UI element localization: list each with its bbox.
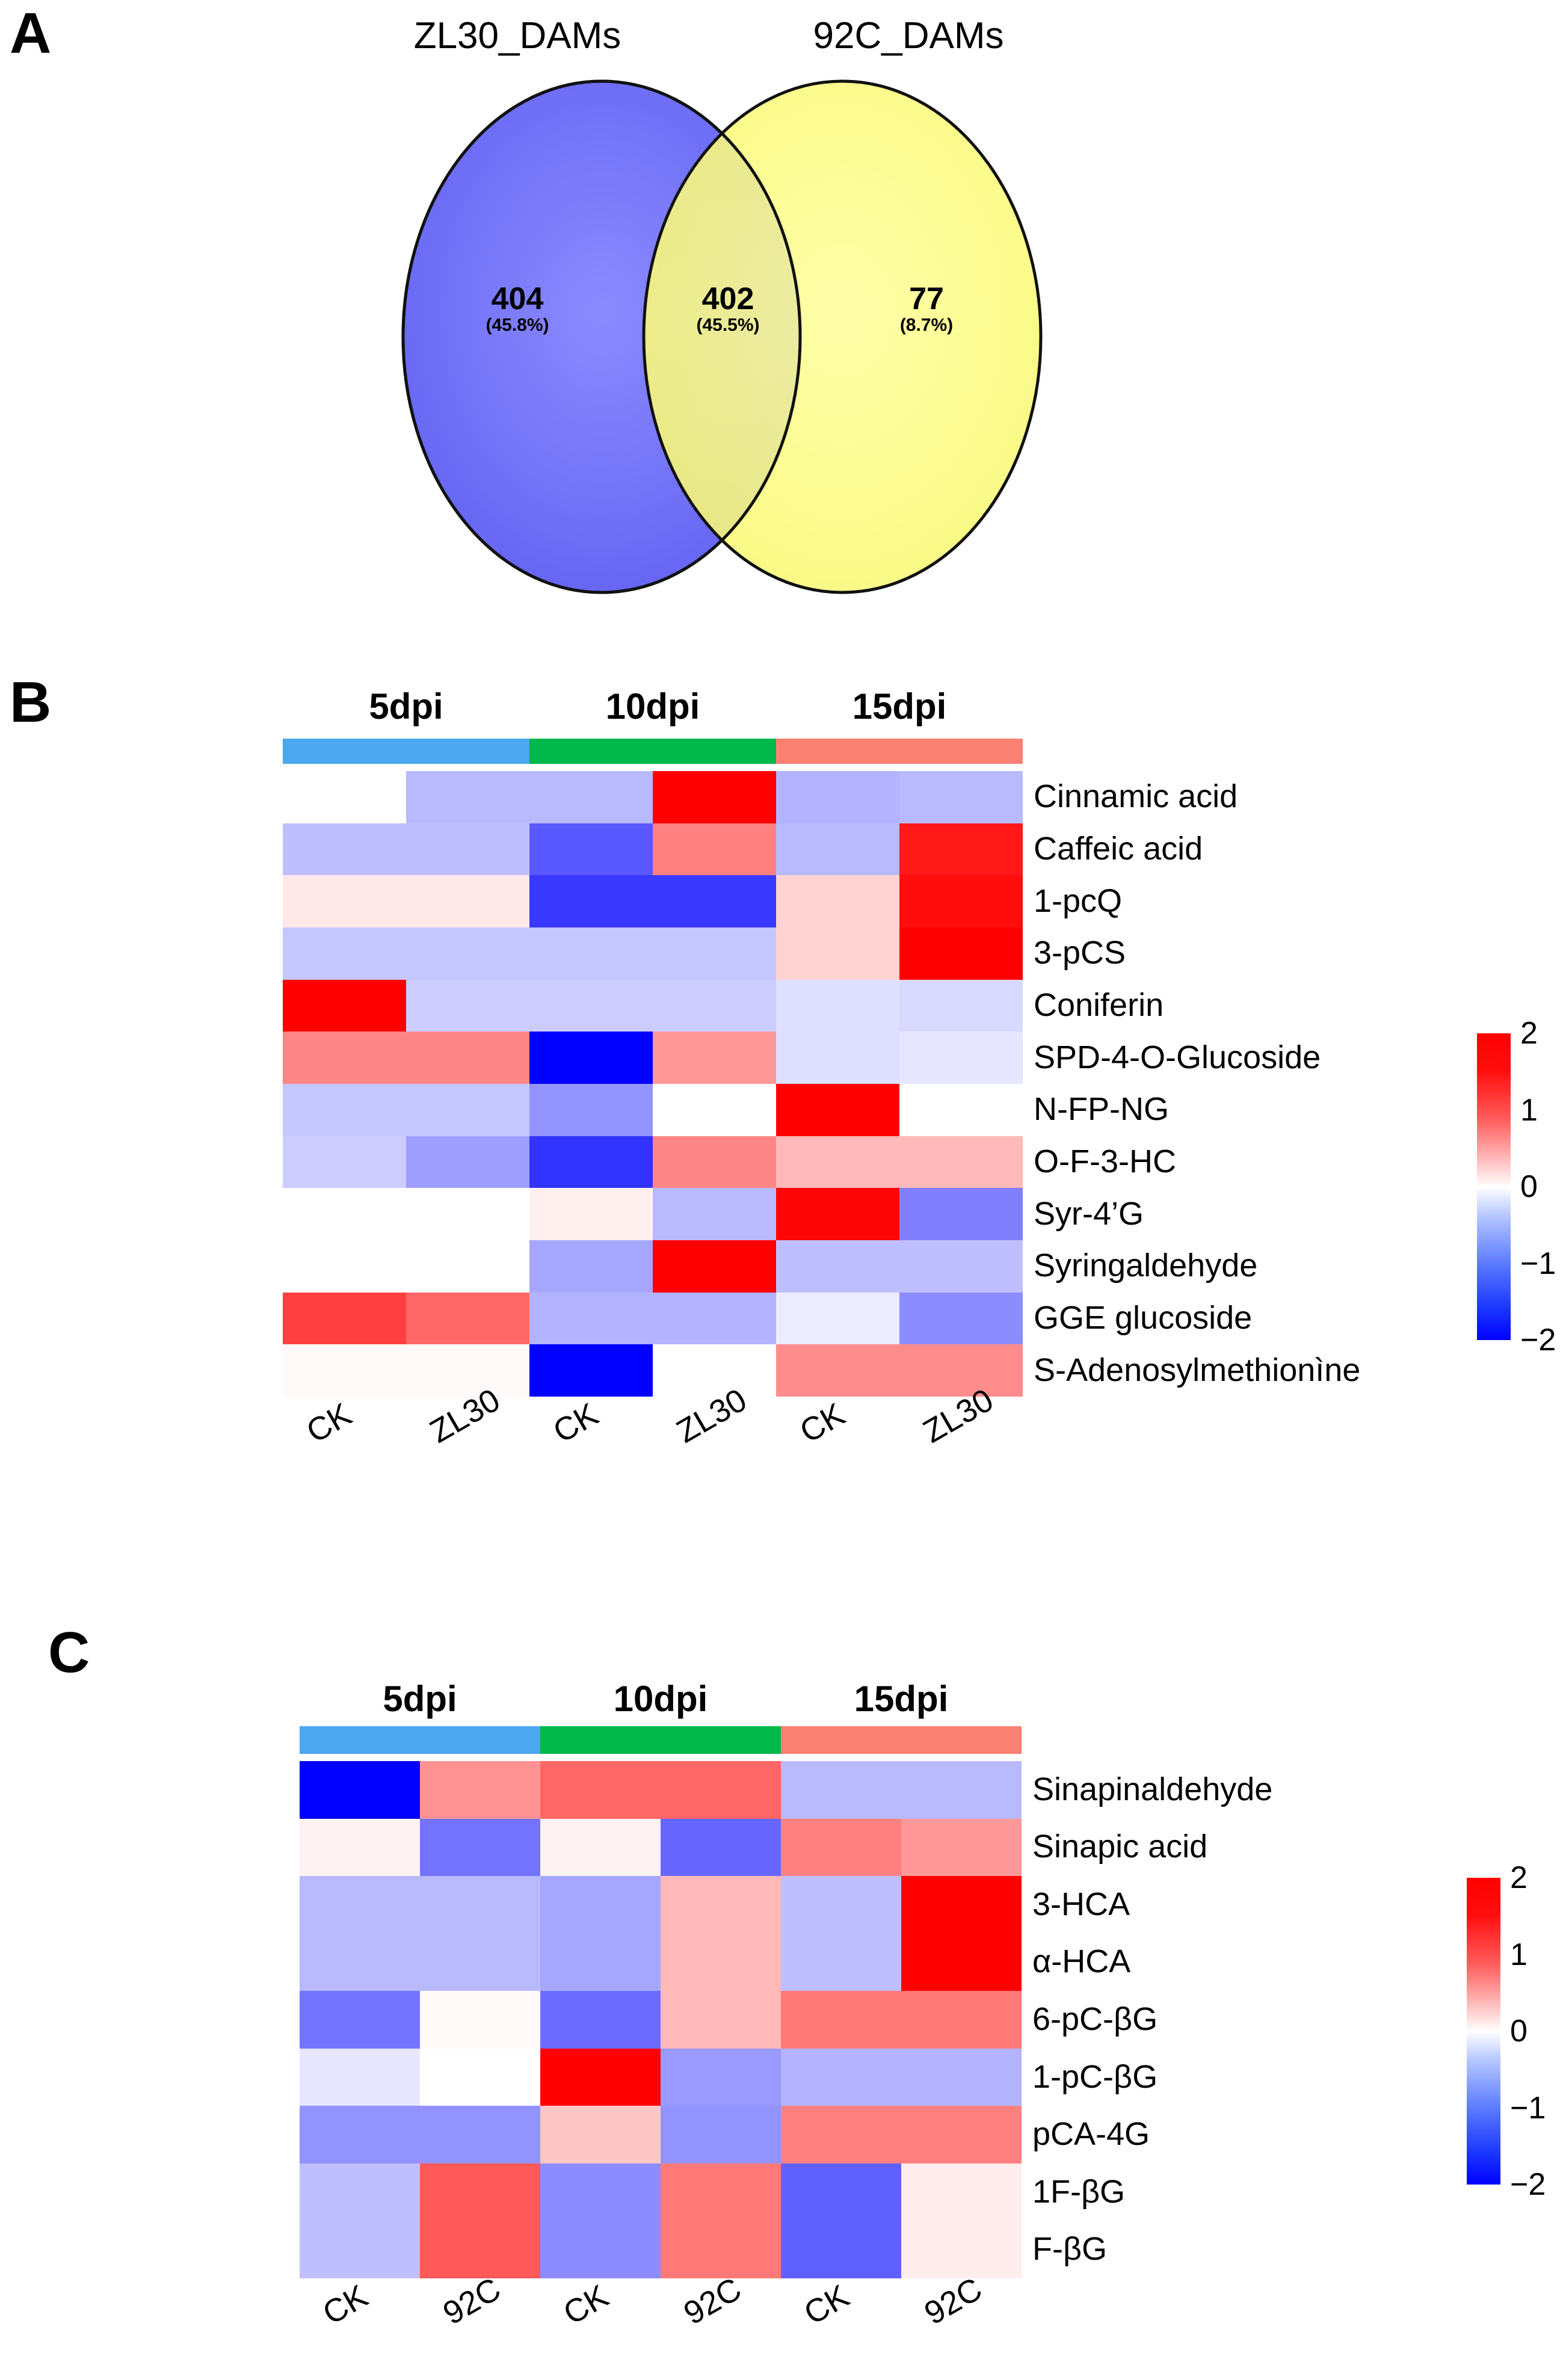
heatmap-cell: [300, 1876, 420, 1934]
heatmap-cell: [781, 1761, 901, 1819]
heatmap-cell: [529, 927, 653, 980]
heatmap-cell: [540, 1991, 661, 2049]
heatmap-column-label-ck: CK: [547, 1395, 605, 1450]
heatmap-cell: [540, 1819, 661, 1877]
heatmap-row-label: 6-pC-βG: [1032, 2000, 1158, 2038]
heatmap-cell: [653, 1032, 776, 1084]
heatmap-cell: [283, 1344, 406, 1397]
heatmap-cell: [283, 875, 406, 927]
panel-c-timepoint-labels: 5dpi10dpi15dpi: [300, 1678, 1022, 1720]
colorbar-tick-label: 0: [1520, 1169, 1538, 1205]
heatmap-cell: [540, 2163, 661, 2221]
heatmap-cell: [529, 1136, 653, 1188]
heatmap-cell: [776, 927, 899, 980]
heatmap-cell: [899, 1293, 1023, 1345]
heatmap-row-label: GGE glucoside: [1034, 1299, 1252, 1336]
heatmap-row-label: S-Adenosylmethionìne: [1034, 1351, 1360, 1389]
heatmap-row-label: pCA-4G: [1032, 2115, 1150, 2153]
heatmap-cell: [300, 2221, 420, 2278]
heatmap-cell: [406, 1136, 529, 1188]
venn-count-right-only-value: 77: [866, 283, 987, 316]
heatmap-cell: [529, 771, 653, 823]
heatmap-cell: [540, 1761, 661, 1819]
heatmap-cell: [781, 2106, 901, 2163]
heatmap-cell: [406, 1293, 529, 1345]
heatmap-cell: [653, 980, 776, 1032]
heatmap-cell: [529, 1240, 653, 1293]
heatmap-cell: [899, 1032, 1023, 1084]
heatmap-cell: [420, 2049, 540, 2106]
heatmap-cell: [776, 823, 899, 876]
heatmap-cell: [420, 2221, 540, 2278]
colorbar-tick-label: −2: [1510, 2166, 1546, 2203]
venn-circle-right: [644, 81, 1041, 592]
timepoint-strip-10dpi: [540, 1726, 781, 1754]
heatmap-cell: [283, 771, 406, 823]
timepoint-strip-5dpi: [283, 739, 529, 764]
heatmap-cell: [420, 1876, 540, 1934]
heatmap-cell: [283, 1032, 406, 1084]
heatmap-cell: [529, 1188, 653, 1240]
panel-b-grid: [283, 771, 1023, 1397]
colorbar-tick-label: −2: [1520, 1322, 1556, 1358]
heatmap-cell: [540, 2106, 661, 2163]
heatmap-cell: [661, 2049, 781, 2106]
heatmap-row-label: α-HCA: [1032, 1943, 1130, 1980]
heatmap-cell: [776, 875, 899, 927]
venn-count-right-only: 77 (8.7%): [866, 283, 987, 334]
colorbar-tick-label: −1: [1510, 2090, 1546, 2126]
heatmap-cell: [901, 2049, 1022, 2106]
colorbar-tick-label: −1: [1520, 1246, 1556, 1282]
colorbar-tick-label: 2: [1510, 1860, 1528, 1896]
heatmap-cell: [901, 2221, 1022, 2278]
heatmap-cell: [529, 1293, 653, 1345]
heatmap-row-label: 3-pCS: [1034, 934, 1126, 971]
heatmap-cell: [300, 1761, 420, 1819]
panel-a-letter: A: [10, 5, 51, 63]
heatmap-cell: [653, 1188, 776, 1240]
heatmap-cell: [283, 1188, 406, 1240]
panel-b-colorbar-gradient: [1477, 1033, 1511, 1340]
colorbar-tick-label: 1: [1510, 1937, 1528, 1973]
heatmap-cell: [899, 823, 1023, 876]
heatmap-cell: [899, 1344, 1023, 1397]
panel-b-row-labels: Cinnamic acidCaffeic acid1-pcQ3-pCSConif…: [1034, 771, 1551, 1397]
heatmap-cell: [529, 980, 653, 1032]
heatmap-row-label: O-F-3-HC: [1034, 1143, 1176, 1180]
heatmap-cell: [661, 1761, 781, 1819]
heatmap-row-label: Coniferin: [1034, 986, 1164, 1024]
heatmap-cell: [540, 2049, 661, 2106]
timepoint-strip-5dpi: [300, 1726, 540, 1754]
timepoint-label-10dpi: 10dpi: [540, 1678, 781, 1720]
heatmap-cell: [661, 1991, 781, 2049]
panel-a: A ZL30_DAMs 92C_DAMs 404 (45.8%) 402: [0, 0, 1560, 626]
heatmap-cell: [776, 1240, 899, 1293]
heatmap-cell: [899, 1188, 1023, 1240]
heatmap-cell: [406, 1344, 529, 1397]
heatmap-row-label: 1F-βG: [1032, 2173, 1125, 2210]
heatmap-cell: [300, 1934, 420, 1991]
heatmap-column-label-92c: 92C: [437, 2270, 507, 2332]
heatmap-cell: [283, 980, 406, 1032]
panel-b-timepoint-colorstrip: [283, 739, 1023, 764]
heatmap-cell: [406, 771, 529, 823]
heatmap-cell: [420, 1934, 540, 1991]
heatmap-cell: [406, 1032, 529, 1084]
heatmap-cell: [899, 771, 1023, 823]
heatmap-column-label-ck: CK: [798, 2277, 856, 2332]
colorbar-tick-label: 2: [1520, 1015, 1538, 1051]
panel-c-colorbar-gradient: [1467, 1878, 1500, 2185]
timepoint-strip-15dpi: [781, 1726, 1022, 1754]
heatmap-column-label-ck: CK: [316, 2277, 374, 2332]
heatmap-cell: [899, 1084, 1023, 1136]
heatmap-row-label: Syringaldehyde: [1034, 1247, 1257, 1284]
heatmap-row-label: Sinapic acid: [1032, 1828, 1207, 1865]
heatmap-cell: [781, 1934, 901, 1991]
heatmap-row-label: Sinapinaldehyde: [1032, 1771, 1272, 1808]
heatmap-cell: [300, 1819, 420, 1877]
heatmap-row-label: SPD-4-O-Glucoside: [1034, 1039, 1321, 1076]
venn-set-label-right: 92C_DAMs: [776, 14, 1041, 57]
heatmap-cell: [776, 1188, 899, 1240]
heatmap-cell: [540, 1934, 661, 1991]
heatmap-row-label: Syr-4’G: [1034, 1195, 1144, 1232]
heatmap-cell: [899, 927, 1023, 980]
heatmap-cell: [653, 927, 776, 980]
panel-b-letter: B: [10, 674, 51, 731]
panel-c-grid: [300, 1761, 1022, 2278]
heatmap-cell: [901, 1991, 1022, 2049]
heatmap-cell: [899, 1136, 1023, 1188]
panel-c-column-labels: CK92CCK92CCK92C: [300, 2283, 1094, 2361]
heatmap-row-label: Caffeic acid: [1034, 830, 1203, 867]
heatmap-cell: [899, 1240, 1023, 1293]
timepoint-label-5dpi: 5dpi: [300, 1678, 540, 1720]
heatmap-cell: [406, 1240, 529, 1293]
timepoint-label-10dpi: 10dpi: [529, 686, 776, 727]
heatmap-cell: [420, 1991, 540, 2049]
heatmap-cell: [899, 980, 1023, 1032]
venn-count-intersection-percent: (45.5%): [668, 316, 788, 335]
heatmap-cell: [901, 2163, 1022, 2221]
heatmap-row-label: 1-pC-βG: [1032, 2058, 1158, 2096]
heatmap-cell: [776, 1293, 899, 1345]
heatmap-cell: [781, 1991, 901, 2049]
heatmap-cell: [653, 1084, 776, 1136]
heatmap-row-label: 3-HCA: [1032, 1886, 1130, 1923]
heatmap-column-label-ck: CK: [794, 1395, 851, 1450]
heatmap-cell: [540, 2221, 661, 2278]
heatmap-cell: [901, 2106, 1022, 2163]
heatmap-row-label: F-βG: [1032, 2230, 1107, 2268]
heatmap-cell: [283, 927, 406, 980]
heatmap-cell: [653, 1136, 776, 1188]
panel-c-letter: C: [48, 1624, 90, 1682]
heatmap-cell: [420, 2163, 540, 2221]
venn-diagram: [301, 72, 1143, 601]
heatmap-cell: [653, 823, 776, 876]
venn-count-intersection-value: 402: [668, 283, 788, 316]
heatmap-cell: [420, 1819, 540, 1877]
heatmap-column-label-92c: 92C: [677, 2270, 748, 2332]
heatmap-cell: [776, 1136, 899, 1188]
heatmap-cell: [653, 1240, 776, 1293]
heatmap-cell: [540, 1876, 661, 1934]
heatmap-row-label: N-FP-NG: [1034, 1090, 1169, 1128]
heatmap-cell: [781, 1876, 901, 1934]
heatmap-column-label-ck: CK: [557, 2277, 615, 2332]
heatmap-cell: [406, 980, 529, 1032]
heatmap-row-label: 1-pcQ: [1034, 882, 1122, 920]
heatmap-cell: [406, 1188, 529, 1240]
panel-b-heatmap: 5dpi10dpi15dpi Cinnamic acidCaffeic acid…: [283, 686, 1558, 1486]
heatmap-cell: [661, 1876, 781, 1934]
colorbar-tick-label: 0: [1510, 2013, 1528, 2049]
heatmap-cell: [406, 927, 529, 980]
heatmap-cell: [781, 2221, 901, 2278]
heatmap-cell: [661, 2106, 781, 2163]
heatmap-cell: [300, 2049, 420, 2106]
heatmap-cell: [776, 1344, 899, 1397]
heatmap-cell: [283, 1084, 406, 1136]
panel-c-colorbar: [1467, 1878, 1500, 2185]
venn-count-intersection: 402 (45.5%): [668, 283, 788, 334]
heatmap-cell: [283, 1240, 406, 1293]
heatmap-cell: [529, 875, 653, 927]
timepoint-label-15dpi: 15dpi: [781, 1678, 1022, 1720]
heatmap-cell: [661, 2163, 781, 2221]
heatmap-cell: [529, 1344, 653, 1397]
heatmap-cell: [899, 875, 1023, 927]
venn-set-label-left: ZL30_DAMs: [373, 14, 662, 57]
heatmap-cell: [653, 1344, 776, 1397]
venn-count-right-only-percent: (8.7%): [866, 316, 987, 335]
venn-count-left-only: 404 (45.8%): [457, 283, 578, 334]
heatmap-cell: [300, 2163, 420, 2221]
venn-count-left-only-value: 404: [457, 283, 578, 316]
heatmap-cell: [901, 1876, 1022, 1934]
heatmap-cell: [283, 1136, 406, 1188]
heatmap-cell: [776, 771, 899, 823]
heatmap-cell: [406, 875, 529, 927]
heatmap-column-label-ck: CK: [300, 1395, 358, 1450]
heatmap-cell: [781, 2049, 901, 2106]
heatmap-cell: [661, 1934, 781, 1991]
heatmap-cell: [776, 1032, 899, 1084]
heatmap-cell: [776, 1084, 899, 1136]
heatmap-cell: [653, 1293, 776, 1345]
timepoint-strip-15dpi: [776, 739, 1023, 764]
panel-b-column-labels: CKZL30CKZL30CKZL30: [283, 1401, 1077, 1480]
panel-c-timepoint-colorstrip: [300, 1726, 1022, 1754]
colorbar-tick-label: 1: [1520, 1092, 1538, 1128]
heatmap-cell: [406, 823, 529, 876]
panel-b-timepoint-labels: 5dpi10dpi15dpi: [283, 686, 1023, 727]
heatmap-cell: [901, 1934, 1022, 1991]
heatmap-cell: [661, 2221, 781, 2278]
heatmap-cell: [283, 823, 406, 876]
heatmap-cell: [661, 1819, 781, 1877]
heatmap-column-label-92c: 92C: [918, 2270, 988, 2332]
heatmap-cell: [283, 1293, 406, 1345]
panel-c-heatmap: 5dpi10dpi15dpi SinapinaldehydeSinapic ac…: [300, 1678, 1560, 2376]
heatmap-cell: [653, 875, 776, 927]
heatmap-row-label: Cinnamic acid: [1034, 778, 1238, 815]
heatmap-cell: [776, 980, 899, 1032]
heatmap-cell: [300, 1991, 420, 2049]
heatmap-cell: [529, 1032, 653, 1084]
heatmap-cell: [653, 771, 776, 823]
heatmap-cell: [529, 823, 653, 876]
panel-b-colorbar: [1477, 1033, 1511, 1340]
timepoint-strip-10dpi: [529, 739, 776, 764]
heatmap-cell: [406, 1084, 529, 1136]
timepoint-label-15dpi: 15dpi: [776, 686, 1023, 727]
heatmap-cell: [901, 1819, 1022, 1877]
heatmap-cell: [781, 2163, 901, 2221]
venn-count-left-only-percent: (45.8%): [457, 316, 578, 335]
heatmap-cell: [781, 1819, 901, 1877]
heatmap-cell: [901, 1761, 1022, 1819]
heatmap-cell: [300, 2106, 420, 2163]
timepoint-label-5dpi: 5dpi: [283, 686, 529, 727]
heatmap-cell: [420, 2106, 540, 2163]
heatmap-cell: [420, 1761, 540, 1819]
heatmap-cell: [529, 1084, 653, 1136]
